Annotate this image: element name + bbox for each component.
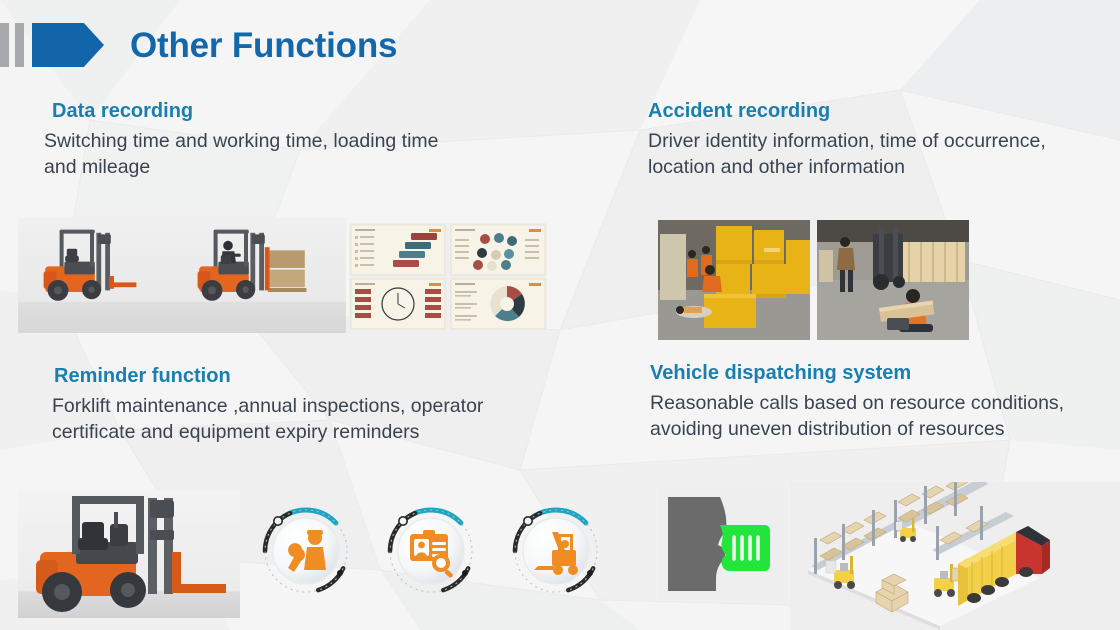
section-data-recording: Data recording Switching time and workin…	[44, 100, 474, 180]
voice-command-icon-image	[658, 487, 788, 599]
forklifts-pair-image	[18, 218, 346, 333]
section-accident-recording: Accident recording Driver identity infor…	[648, 100, 1118, 180]
section-body-accident-recording: Driver identity information, time of occ…	[648, 129, 1118, 180]
marker-bar-2	[15, 23, 24, 67]
title-row: Other Functions	[0, 22, 397, 68]
section-vehicle-dispatching: Vehicle dispatching system Reasonable ca…	[650, 362, 1110, 442]
worker-wrench-icon-group	[252, 497, 364, 605]
section-body-data-recording: Switching time and working time, loading…	[44, 129, 474, 180]
marker-bar-1	[0, 23, 9, 67]
page-title: Other Functions	[130, 28, 397, 63]
section-heading-data-recording: Data recording	[52, 100, 474, 123]
accident-photo-1-image	[658, 220, 810, 340]
slide: Other Functions Data recording Switching…	[0, 0, 1120, 630]
section-heading-reminder-function: Reminder function	[54, 365, 552, 388]
section-heading-vehicle-dispatching: Vehicle dispatching system	[650, 362, 1110, 385]
forklift-icon-group	[498, 497, 610, 605]
id-card-search-icon-group	[373, 497, 489, 605]
warehouse-dispatch-image	[790, 482, 1120, 630]
section-body-vehicle-dispatching: Reasonable calls based on resource condi…	[650, 391, 1110, 442]
forklift-large-image	[18, 490, 240, 618]
section-heading-accident-recording: Accident recording	[648, 100, 1118, 123]
section-body-reminder-function: Forklift maintenance ,annual inspections…	[52, 394, 552, 445]
reminder-icons-group	[252, 497, 610, 605]
section-reminder-function: Reminder function Forklift maintenance ,…	[52, 365, 552, 445]
accident-photo-2-image	[817, 220, 969, 340]
arrow-marker-icon	[32, 23, 104, 67]
infographic-thumbnails-image	[349, 223, 547, 331]
